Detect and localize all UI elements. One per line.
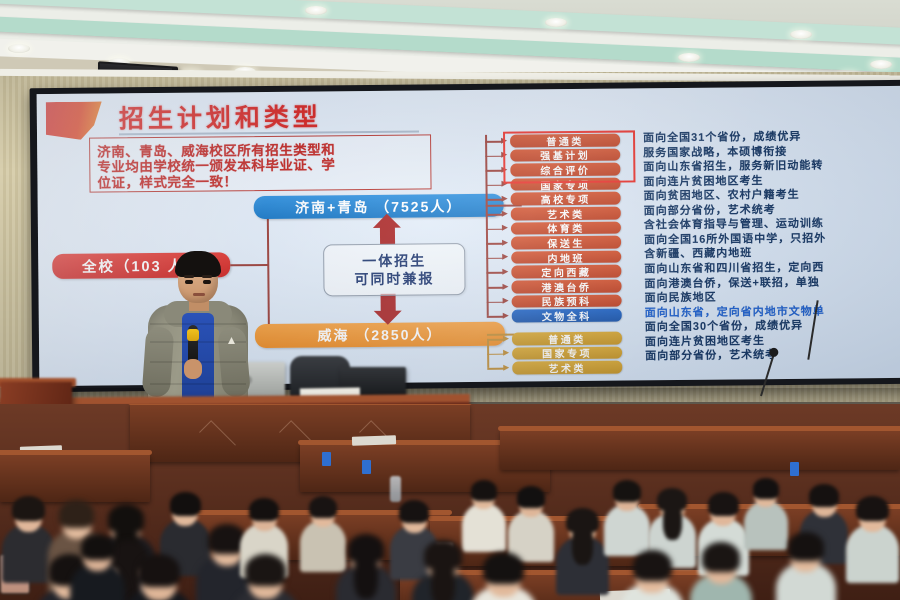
branch-arrow xyxy=(503,364,509,370)
audience-hair xyxy=(788,532,824,561)
category-chip: 艺术类 xyxy=(512,361,622,375)
seat-number-sticker xyxy=(790,462,799,476)
audience-ponytail xyxy=(354,552,377,599)
branch-line xyxy=(486,272,503,274)
ceiling-downlight xyxy=(870,60,892,69)
branch-line xyxy=(486,214,503,216)
audience-member xyxy=(508,486,554,556)
audience-body xyxy=(604,504,650,556)
audience-hair xyxy=(309,496,337,518)
audience-member xyxy=(604,480,650,550)
water-bottle xyxy=(390,476,401,502)
category-chip: 民族预科 xyxy=(512,294,622,308)
description-column: 面向全国31个省份，成绩优异服务国家战略，本硕博衔接面向山东省招生，服务新旧动能… xyxy=(37,86,900,94)
branch-arrow xyxy=(502,210,508,216)
category-chip: 港澳台侨 xyxy=(511,280,621,294)
unified-line-2: 可同时兼报 xyxy=(354,269,434,288)
branch-line xyxy=(485,141,502,143)
jacket-seam xyxy=(150,383,246,385)
category-chip: 国家专项 xyxy=(512,346,622,360)
presenter-eyebrow xyxy=(202,275,212,278)
jq-branch-lines xyxy=(37,86,900,94)
unified-line-1: 一体招生 xyxy=(362,251,426,270)
branch-line xyxy=(487,353,504,355)
audience-member xyxy=(470,552,537,600)
presenter-mouth xyxy=(193,293,205,296)
branch-arrow xyxy=(503,298,509,304)
bench-rail xyxy=(498,426,900,431)
branch-arrow xyxy=(502,225,508,231)
audience-hair xyxy=(399,500,428,523)
presenter-hand xyxy=(184,359,202,379)
ceiling-downlight xyxy=(790,30,812,39)
branch-line xyxy=(487,339,504,341)
audience-hair xyxy=(59,500,94,528)
desk-chevron xyxy=(199,420,236,457)
audience-ponytail xyxy=(572,524,593,565)
branch-line xyxy=(486,243,503,245)
audience-hair xyxy=(613,480,641,502)
branch-line xyxy=(486,287,503,289)
brochure xyxy=(352,435,396,446)
audience-hair xyxy=(12,496,44,521)
category-chip: 艺术类 xyxy=(511,207,621,221)
audience-hair xyxy=(753,478,780,499)
bench-desk xyxy=(500,430,900,470)
node-unified-admission: 一体招生 可同时兼报 xyxy=(323,243,465,296)
ceiling-downlight xyxy=(305,6,327,15)
audience-member xyxy=(232,554,299,600)
jq-category-list: 普通类强基计划综合评价国家专项高校专项艺术类体育类保送生内地班定向西藏港澳台侨民… xyxy=(37,86,900,94)
audience-member xyxy=(776,532,836,600)
category-chip: 保送生 xyxy=(511,236,621,250)
branch-arrow xyxy=(503,312,509,318)
bracket-spine-jq xyxy=(485,135,488,316)
audience-member xyxy=(462,480,506,547)
category-chip: 内地班 xyxy=(511,250,621,264)
connector xyxy=(267,207,270,337)
branch-arrow xyxy=(502,283,508,289)
audience-member xyxy=(690,542,752,600)
arrow-up xyxy=(380,227,395,245)
branch-line xyxy=(486,228,503,230)
node-weihai: 威海 （2850人） xyxy=(255,322,505,348)
audience-hair xyxy=(708,492,739,516)
audience-seating xyxy=(0,404,900,600)
branch-line xyxy=(487,301,504,303)
branch-arrow xyxy=(502,239,508,245)
presenter-eye xyxy=(185,280,193,284)
audience-member xyxy=(412,540,474,600)
category-chip: 定向西藏 xyxy=(511,265,621,279)
arrow-down xyxy=(381,294,396,312)
bench-desk xyxy=(0,454,150,502)
branch-line xyxy=(486,184,503,186)
lecture-hall-photo: 招生计划和类型 济南、青岛、威海校区所有招生类型和 专业均由学校统一颁发本科毕业… xyxy=(0,0,900,600)
connector xyxy=(486,205,506,207)
audience-hair xyxy=(483,552,524,584)
seat-number-sticker xyxy=(362,460,371,474)
category-chip: 高校专项 xyxy=(511,192,621,206)
description-line: 面向部分省份，艺术统考 xyxy=(645,346,777,363)
audience-hair xyxy=(170,492,201,516)
audience-hair xyxy=(245,554,286,586)
red-flag-ribbon-icon xyxy=(46,102,102,141)
audience-member xyxy=(336,534,396,600)
category-chip: 普通类 xyxy=(512,332,622,346)
presenter-eye xyxy=(203,280,211,284)
highlight-box xyxy=(503,130,635,183)
branch-line xyxy=(486,199,503,201)
audience-body xyxy=(846,524,899,584)
slide-callout-box: 济南、青岛、威海校区所有招生类型和 专业均由学校统一颁发本科毕业证、学 位证，样… xyxy=(89,134,432,192)
audience-hair xyxy=(249,498,278,521)
presenter-hair xyxy=(175,251,221,277)
audience-hair xyxy=(856,496,888,521)
audience-member xyxy=(124,554,193,600)
branch-line xyxy=(487,316,504,318)
branch-arrow xyxy=(502,269,508,275)
branch-line xyxy=(486,257,503,259)
category-chip: 文物全科 xyxy=(512,309,622,323)
branch-arrow xyxy=(502,254,508,260)
ceiling-downlight xyxy=(678,53,700,62)
branch-line xyxy=(485,170,502,172)
bench-rail xyxy=(0,450,152,455)
audience-member xyxy=(846,496,899,577)
slide-title: 招生计划和类型 xyxy=(119,97,322,135)
wh-category-list: 普通类国家专项艺术类 xyxy=(37,86,900,94)
branch-arrow xyxy=(502,196,508,202)
branch-arrow xyxy=(503,350,509,356)
audience-hair xyxy=(471,480,498,501)
audience-hair xyxy=(81,534,115,560)
audience-ponytail xyxy=(431,559,455,600)
branch-line xyxy=(485,155,502,157)
audience-hair xyxy=(702,542,740,572)
audience-hair xyxy=(633,550,672,581)
branch-arrow xyxy=(503,335,509,341)
presenter xyxy=(144,249,252,409)
branch-line xyxy=(487,368,504,370)
audience-member xyxy=(556,508,609,589)
audience-member xyxy=(620,550,684,600)
audience-hair xyxy=(809,484,838,507)
presenter-eyebrow xyxy=(184,275,194,278)
wh-branch-lines xyxy=(37,86,900,94)
category-chip: 体育类 xyxy=(511,221,621,235)
callout-line-3: 位证，样式完全一致！ xyxy=(97,170,237,191)
jacket-seam xyxy=(150,323,246,325)
microphone-gold-band xyxy=(187,329,199,341)
audience-hair xyxy=(138,554,180,587)
audience-member xyxy=(70,534,125,600)
ceiling-downlight xyxy=(8,44,30,53)
seat-number-sticker xyxy=(322,452,331,466)
audience-hair xyxy=(517,486,545,508)
ceiling-downlight xyxy=(545,18,567,27)
audience-ponytail xyxy=(663,503,682,541)
bench-rail xyxy=(128,404,472,405)
